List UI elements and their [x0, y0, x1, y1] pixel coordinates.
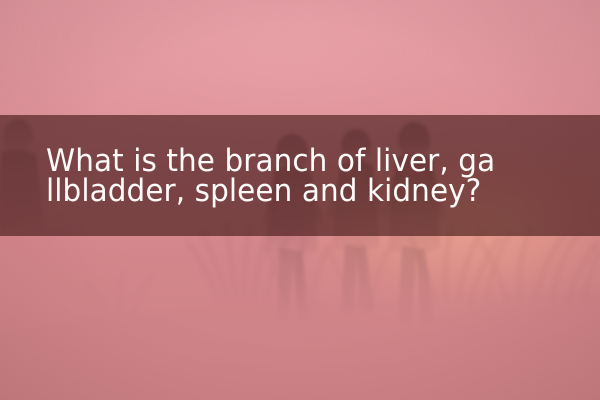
question-image-card: What is the branch of liver, ga llbladde… — [0, 0, 600, 400]
question-text: What is the branch of liver, ga llbladde… — [46, 146, 495, 206]
caption-band: What is the branch of liver, ga llbladde… — [0, 115, 600, 236]
